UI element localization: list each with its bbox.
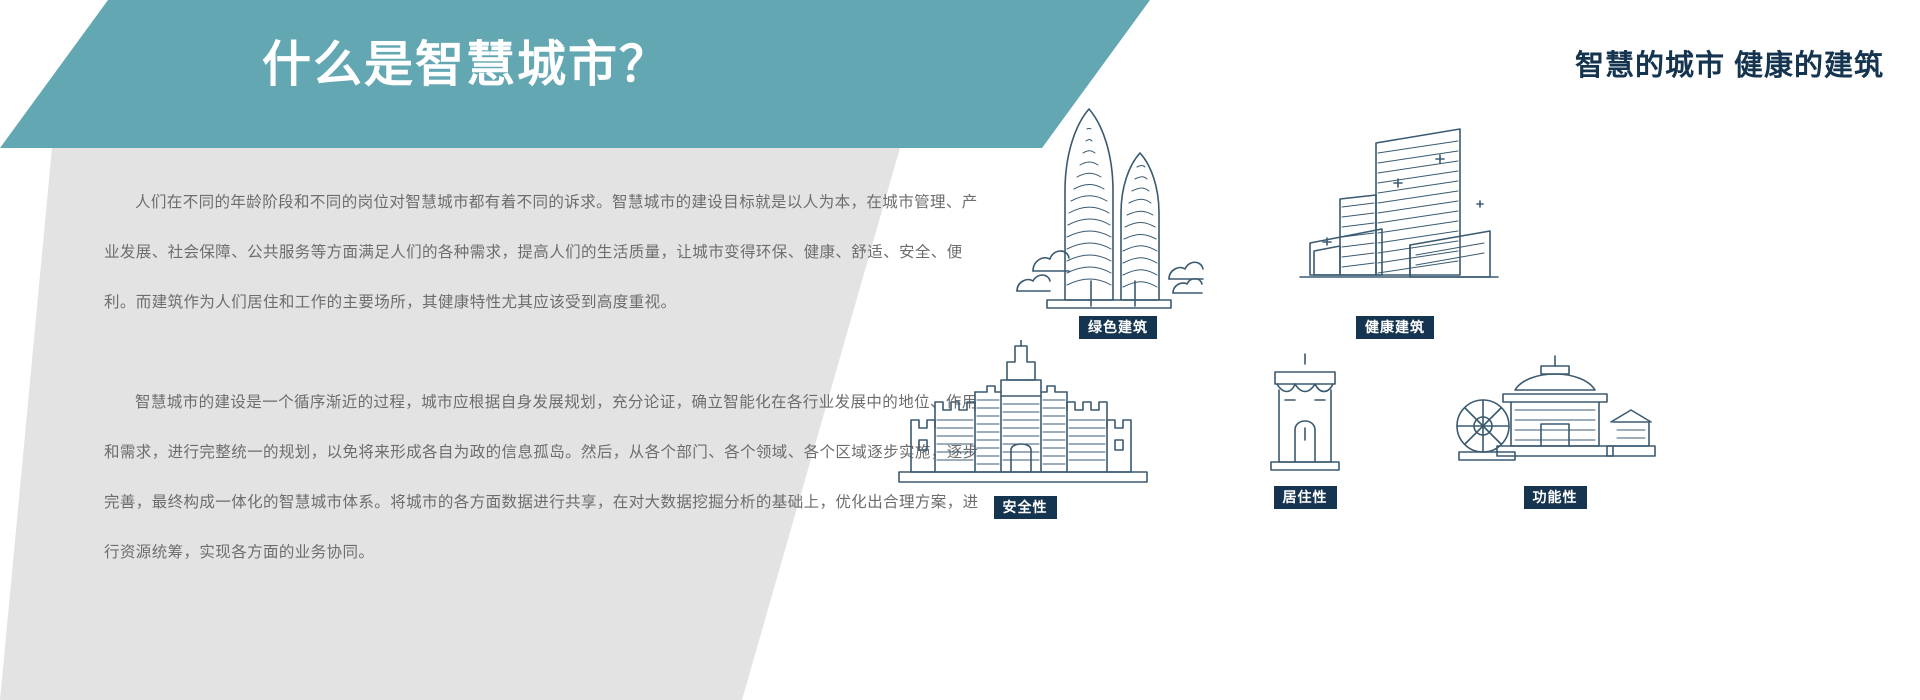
illustration-label-safety: 安全性 bbox=[994, 496, 1057, 519]
illustration-label-functionality: 功能性 bbox=[1524, 486, 1587, 509]
headline-text: 智慧的城市 健康的建筑 bbox=[1575, 42, 1884, 84]
paragraph-1: 人们在不同的年龄阶段和不同的岗位对智慧城市都有着不同的诉求。智慧城市的建设目标就… bbox=[104, 178, 984, 328]
illustration-label-health-building: 健康建筑 bbox=[1356, 316, 1434, 339]
hospital-building-icon bbox=[1280, 125, 1510, 310]
twisted-towers-icon bbox=[1003, 95, 1233, 310]
pavilion-watermill-icon bbox=[1445, 350, 1665, 480]
page-title: 什么是智慧城市？ bbox=[262, 36, 670, 95]
house-shop-icon bbox=[1235, 350, 1375, 480]
illustration-label-livability: 居住性 bbox=[1274, 486, 1337, 509]
illustration-green-building: 绿色建筑 bbox=[968, 95, 1268, 339]
body-text-block: 人们在不同的年龄阶段和不同的岗位对智慧城市都有着不同的诉求。智慧城市的建设目标就… bbox=[104, 178, 984, 578]
illustration-functionality: 功能性 bbox=[1390, 350, 1720, 509]
paragraph-2: 智慧城市的建设是一个循序渐近的过程，城市应根据自身发展规划，充分论证，确立智能化… bbox=[104, 378, 984, 578]
illustration-group: 绿色建筑 健康建筑 bbox=[900, 95, 1920, 625]
illustration-health-building: 健康建筑 bbox=[1245, 125, 1545, 339]
illustration-safety: 安全性 bbox=[860, 340, 1190, 519]
castle-fortress-icon bbox=[875, 340, 1175, 490]
illustration-label-green-building: 绿色建筑 bbox=[1079, 316, 1157, 339]
